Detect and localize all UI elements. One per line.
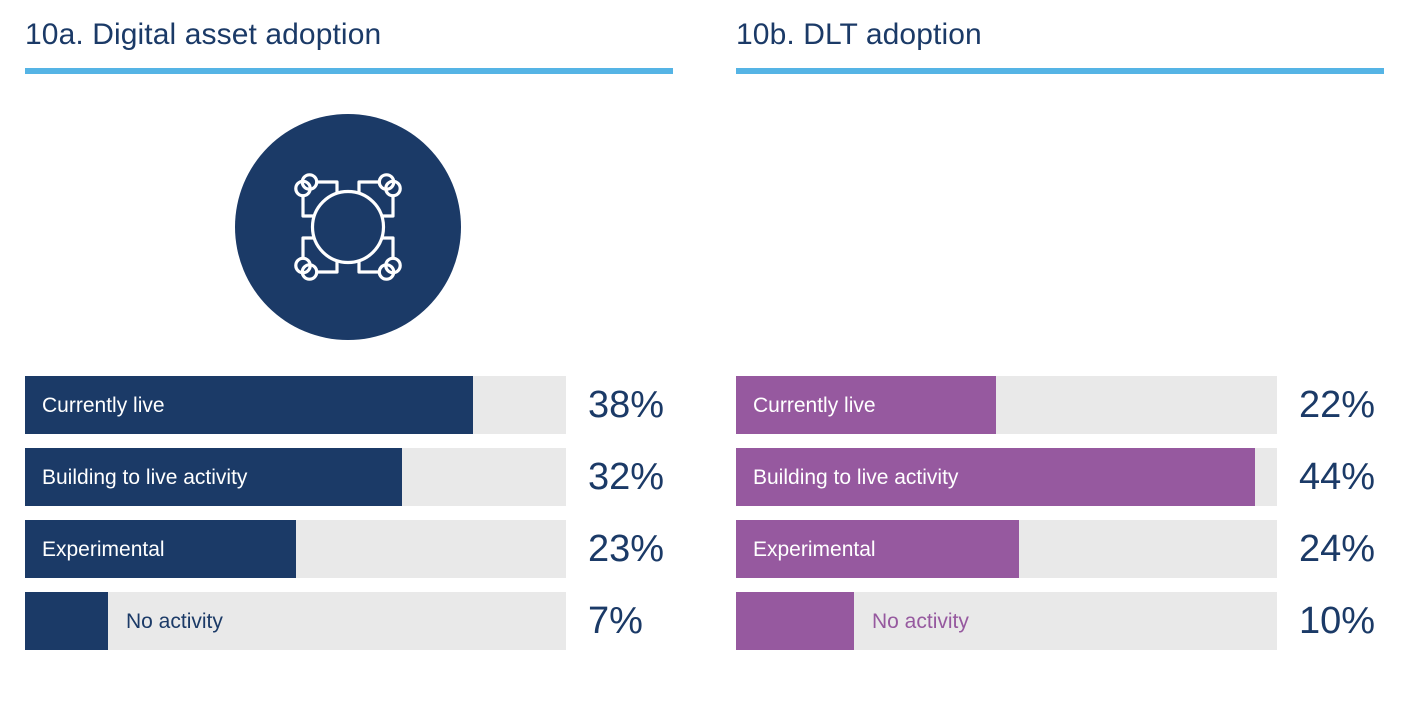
bar-row: Experimental 24% [736, 520, 1384, 578]
bar-value: 32% [588, 448, 664, 506]
bar-label: Experimental [753, 520, 876, 578]
bar-label: Building to live activity [42, 448, 247, 506]
bar-label: Currently live [42, 376, 165, 434]
bar-value: 10% [1299, 592, 1375, 650]
page-title: 10b. DLT adoption [736, 17, 982, 53]
bar-row: Currently live 38% [25, 376, 673, 434]
bar-chart-digital-asset-adoption: Currently live 38% Building to live acti… [25, 376, 673, 650]
bar-chart-dlt-adoption: Currently live 22% Building to live acti… [736, 376, 1384, 650]
bar-row: Building to live activity 32% [25, 448, 673, 506]
figure-canvas: 10a. Digital asset adoption [0, 0, 1422, 706]
bar-value: 38% [588, 376, 664, 434]
bar-row: Currently live 22% [736, 376, 1384, 434]
bar-label: No activity [126, 592, 223, 650]
bar-label: Building to live activity [753, 448, 958, 506]
bar-fill [736, 592, 854, 650]
panel-digital-asset-adoption: 10a. Digital asset adoption [0, 0, 690, 706]
bar-label: Experimental [42, 520, 165, 578]
bar-value: 22% [1299, 376, 1375, 434]
page-title: 10a. Digital asset adoption [25, 17, 381, 53]
panel-dlt-adoption: 10b. DLT adoption [711, 0, 1401, 706]
bar-row: No activity 10% [736, 592, 1384, 650]
bar-value: 24% [1299, 520, 1375, 578]
bar-label: No activity [872, 592, 969, 650]
bar-row: Building to live activity 44% [736, 448, 1384, 506]
bar-row: Experimental 23% [25, 520, 673, 578]
title-underline-rule [25, 68, 673, 74]
bar-value: 23% [588, 520, 664, 578]
bar-value: 7% [588, 592, 643, 650]
bar-label: Currently live [753, 376, 876, 434]
bar-row: No activity 7% [25, 592, 673, 650]
digital-network-node-icon [281, 160, 415, 294]
bar-value: 44% [1299, 448, 1375, 506]
bar-fill [25, 592, 108, 650]
digital-network-node-medallion [235, 114, 461, 340]
title-underline-rule [736, 68, 1384, 74]
